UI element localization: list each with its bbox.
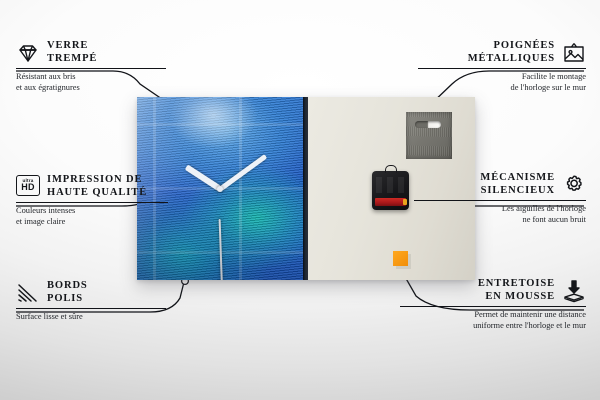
- battery-terminal: [403, 199, 407, 205]
- ultra-hd-icon-large-text: HD: [21, 183, 35, 193]
- feature-subtitle: Les aiguilles de l'horloge ne font aucun…: [414, 204, 586, 225]
- feature-mecanisme-silencieux: MÉCANISME SILENCIEUX Les aiguilles de l'…: [414, 172, 586, 225]
- feature-rule: [418, 68, 586, 69]
- feature-title: BORDS POLIS: [47, 280, 88, 305]
- feature-rule: [400, 306, 586, 307]
- clock-mechanism: [372, 171, 409, 210]
- feature-subtitle: Surface lisse et sûre: [16, 312, 166, 322]
- feature-rule: [16, 308, 166, 309]
- feature-head: ultra HD IMPRESSION DE HAUTE QUALITÉ: [16, 174, 168, 199]
- clock-center-cap: [217, 186, 223, 192]
- feature-title: POIGNÉES MÉTALLIQUES: [468, 40, 555, 65]
- feature-title: IMPRESSION DE HAUTE QUALITÉ: [47, 174, 147, 199]
- feature-head: VERRE TREMPÉ: [16, 40, 166, 65]
- clock-hour-hand: [185, 164, 222, 190]
- feature-head: MÉCANISME SILENCIEUX: [414, 172, 586, 197]
- diamond-icon: [16, 41, 40, 65]
- feature-rule: [16, 202, 168, 203]
- foam-spacer: [393, 251, 408, 266]
- ultra-hd-icon: ultra HD: [16, 175, 40, 199]
- hanger-slot: [415, 121, 441, 128]
- feature-head: POIGNÉES MÉTALLIQUES: [418, 40, 586, 65]
- mechanism-hook: [385, 165, 397, 173]
- feature-entretoise-mousse: ENTRETOISE EN MOUSSE Permet de maintenir…: [400, 278, 586, 331]
- polished-edges-icon: [16, 281, 40, 305]
- feature-poignees-metalliques: POIGNÉES MÉTALLIQUES Facilite le montage…: [418, 40, 586, 93]
- infographic-canvas: VERRE TREMPÉ Résistant aux bris et aux é…: [0, 0, 600, 400]
- feature-subtitle: Couleurs intenses et image claire: [16, 206, 168, 227]
- mechanism-detail: [376, 177, 404, 193]
- feature-title: MÉCANISME SILENCIEUX: [480, 172, 555, 197]
- feature-rule: [16, 68, 166, 69]
- feature-subtitle: Permet de maintenir une distance uniform…: [400, 310, 586, 331]
- down-arrow-foam-icon: [562, 279, 586, 303]
- feature-head: BORDS POLIS: [16, 280, 166, 305]
- feature-rule: [414, 200, 586, 201]
- feature-head: ENTRETOISE EN MOUSSE: [400, 278, 586, 303]
- feature-subtitle: Résistant aux bris et aux égratignures: [16, 72, 166, 93]
- feature-title: VERRE TREMPÉ: [47, 40, 97, 65]
- feature-subtitle: Facilite le montage de l'horloge sur le …: [418, 72, 586, 93]
- feature-verre-trempe: VERRE TREMPÉ Résistant aux bris et aux é…: [16, 40, 166, 93]
- battery: [375, 198, 406, 206]
- feature-bords-polis: BORDS POLIS Surface lisse et sûre: [16, 280, 166, 323]
- feature-title: ENTRETOISE EN MOUSSE: [478, 278, 555, 303]
- feature-impression-hd: ultra HD IMPRESSION DE HAUTE QUALITÉ Cou…: [16, 174, 168, 227]
- clock-minute-hand: [219, 154, 267, 191]
- metal-hanger-plate: [406, 112, 452, 159]
- clock-second-hand: [219, 218, 223, 280]
- picture-frame-icon: [562, 41, 586, 65]
- gear-icon: [562, 173, 586, 197]
